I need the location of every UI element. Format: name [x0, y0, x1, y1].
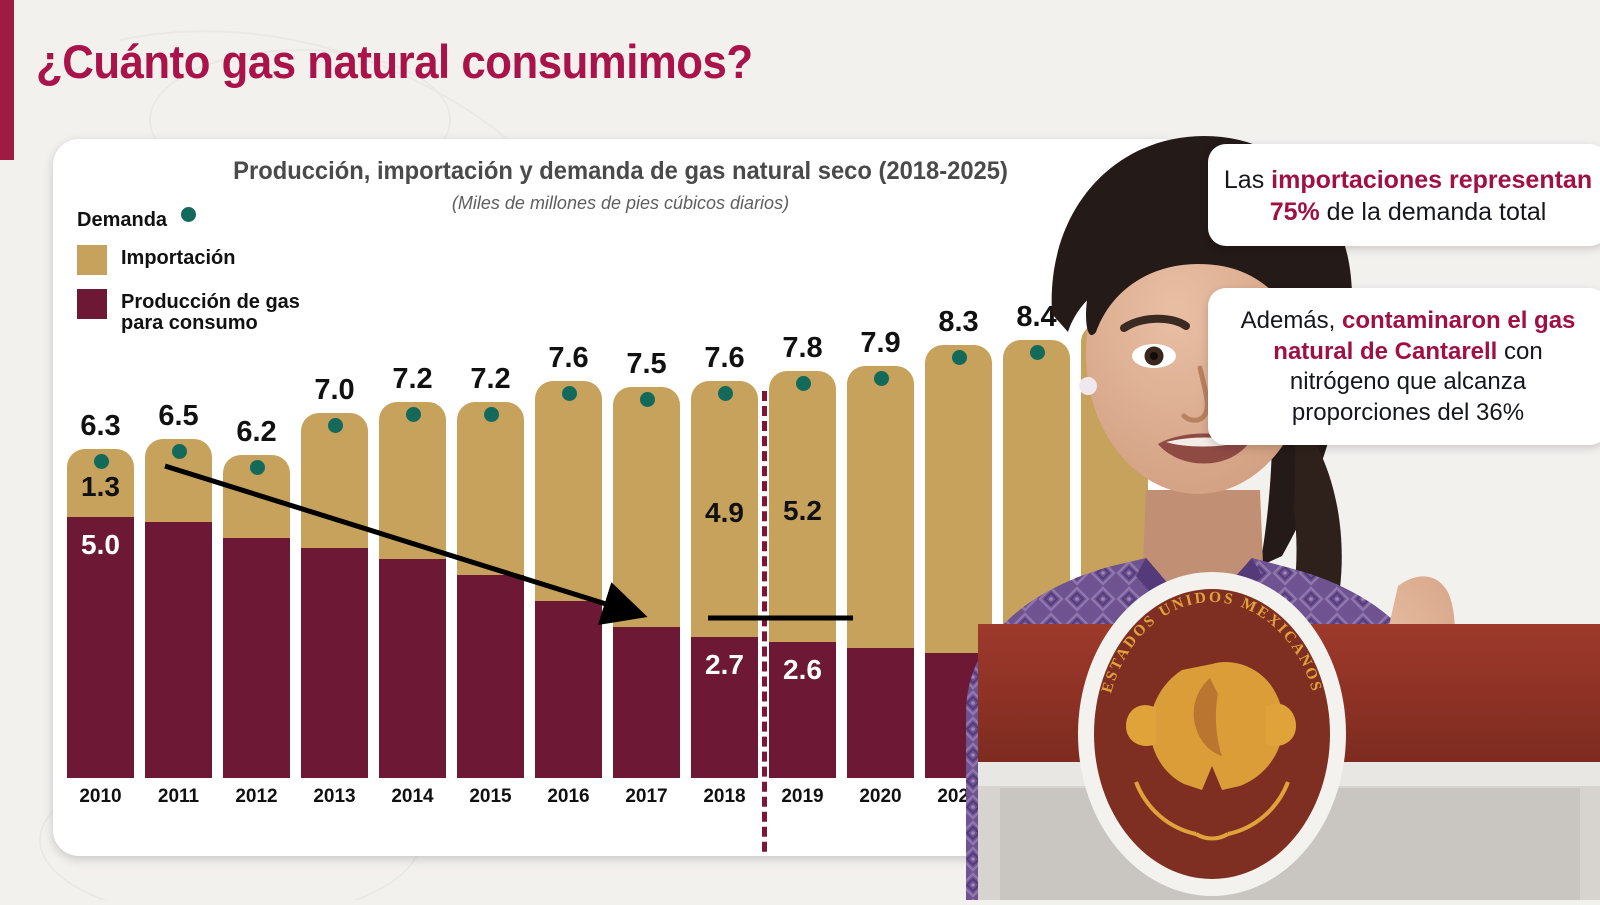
bar-group-2011[interactable]: 6.5: [145, 439, 212, 778]
bar-produccion-2017: [613, 627, 680, 778]
bar-produccion-2012: [223, 538, 290, 778]
year-label-2013: 2013: [313, 786, 355, 808]
year-label-2019: 2019: [781, 786, 823, 808]
year-label-2012: 2012: [235, 786, 277, 808]
produccion-value-2019: 2.6: [783, 654, 822, 686]
left-accent-bar: [0, 0, 14, 160]
demanda-dot-2013: [328, 418, 343, 433]
bar-produccion-2016: [535, 601, 602, 778]
importaciones-callout: Las importaciones representan 75% de la …: [1208, 144, 1600, 246]
bar-group-2010[interactable]: 6.31.35.0: [67, 449, 134, 778]
bar-group-2019[interactable]: 7.85.22.6: [769, 371, 836, 778]
bar-importacion-2018: [691, 381, 758, 778]
demanda-dot-2012: [250, 460, 265, 475]
bar-importacion-2013: [301, 413, 368, 778]
bar-produccion-2020: [847, 648, 914, 778]
forecast-divider: [762, 391, 767, 856]
year-label-2011: 2011: [158, 786, 199, 808]
demanda-value-2010: 6.3: [80, 410, 120, 443]
produccion-value-2010: 5.0: [81, 529, 120, 561]
bar-group-2014[interactable]: 7.2: [379, 402, 446, 778]
bar-importacion-2015: [457, 402, 524, 778]
demanda-value-2013: 7.0: [314, 374, 354, 407]
year-label-2018: 2018: [703, 786, 745, 808]
demanda-dot-2019: [796, 376, 811, 391]
demanda-dot-2010: [94, 454, 109, 469]
bar-importacion-2019: [769, 371, 836, 778]
demanda-dot-2020: [874, 371, 889, 386]
demanda-value-2011: 6.5: [158, 400, 198, 433]
demanda-dot-2017: [640, 392, 655, 407]
demanda-dot-2014: [406, 407, 421, 422]
demanda-value-2017: 7.5: [626, 348, 666, 381]
demanda-value-2019: 7.8: [782, 332, 822, 365]
year-label-2010: 2010: [79, 786, 121, 808]
importacion-value-2018: 4.9: [705, 497, 744, 529]
bar-produccion-2015: [457, 575, 524, 778]
bar-produccion-2014: [379, 559, 446, 778]
year-label-2017: 2017: [625, 786, 667, 808]
callout-2-text-a: Además,: [1241, 307, 1342, 334]
year-label-2014: 2014: [391, 786, 433, 808]
year-label-2020: 2020: [859, 786, 901, 808]
demanda-dot-2016: [562, 386, 577, 401]
bar-importacion-2014: [379, 402, 446, 778]
demanda-value-2016: 7.6: [548, 342, 588, 375]
bar-importacion-2017: [613, 387, 680, 778]
importacion-value-2010: 1.3: [81, 471, 120, 503]
demanda-dot-2018: [718, 386, 733, 401]
demanda-dot-2015: [484, 407, 499, 422]
bar-importacion-2011: [145, 439, 212, 778]
bar-group-2012[interactable]: 6.2: [223, 455, 290, 778]
bar-group-2017[interactable]: 7.5: [613, 387, 680, 778]
bar-group-2020[interactable]: 7.9: [847, 366, 914, 778]
bar-group-2016[interactable]: 7.6: [535, 381, 602, 778]
podium-seal: ESTADOS UNIDOS MEXICANOS: [1078, 572, 1346, 896]
bar-group-2018[interactable]: 7.64.92.7: [691, 381, 758, 778]
importacion-value-2019: 5.2: [783, 495, 822, 527]
bar-importacion-2016: [535, 381, 602, 778]
bar-importacion-2020: [847, 366, 914, 778]
demanda-value-2014: 7.2: [392, 363, 432, 396]
produccion-value-2018: 2.7: [705, 649, 744, 681]
year-label-2015: 2015: [469, 786, 511, 808]
bar-group-2015[interactable]: 7.2: [457, 402, 524, 778]
demanda-value-2012: 6.2: [236, 416, 276, 449]
bar-produccion-2011: [145, 522, 212, 778]
demanda-value-2020: 7.9: [860, 327, 900, 360]
page-title: ¿Cuánto gas natural consumimos?: [36, 34, 753, 89]
demanda-value-2015: 7.2: [470, 363, 510, 396]
left-earring: [1079, 377, 1097, 395]
callout-1-text-c: de la demanda total: [1320, 198, 1547, 226]
bar-importacion-2012: [223, 455, 290, 778]
bar-group-2013[interactable]: 7.0: [301, 413, 368, 778]
cantarell-callout: Además, contaminaron el gas natural de C…: [1208, 288, 1600, 445]
bar-produccion-2013: [301, 548, 368, 778]
demanda-dot-2011: [172, 444, 187, 459]
callout-1-text-a: Las: [1224, 166, 1271, 194]
year-label-2016: 2016: [547, 786, 589, 808]
demanda-value-2018: 7.6: [704, 342, 744, 375]
